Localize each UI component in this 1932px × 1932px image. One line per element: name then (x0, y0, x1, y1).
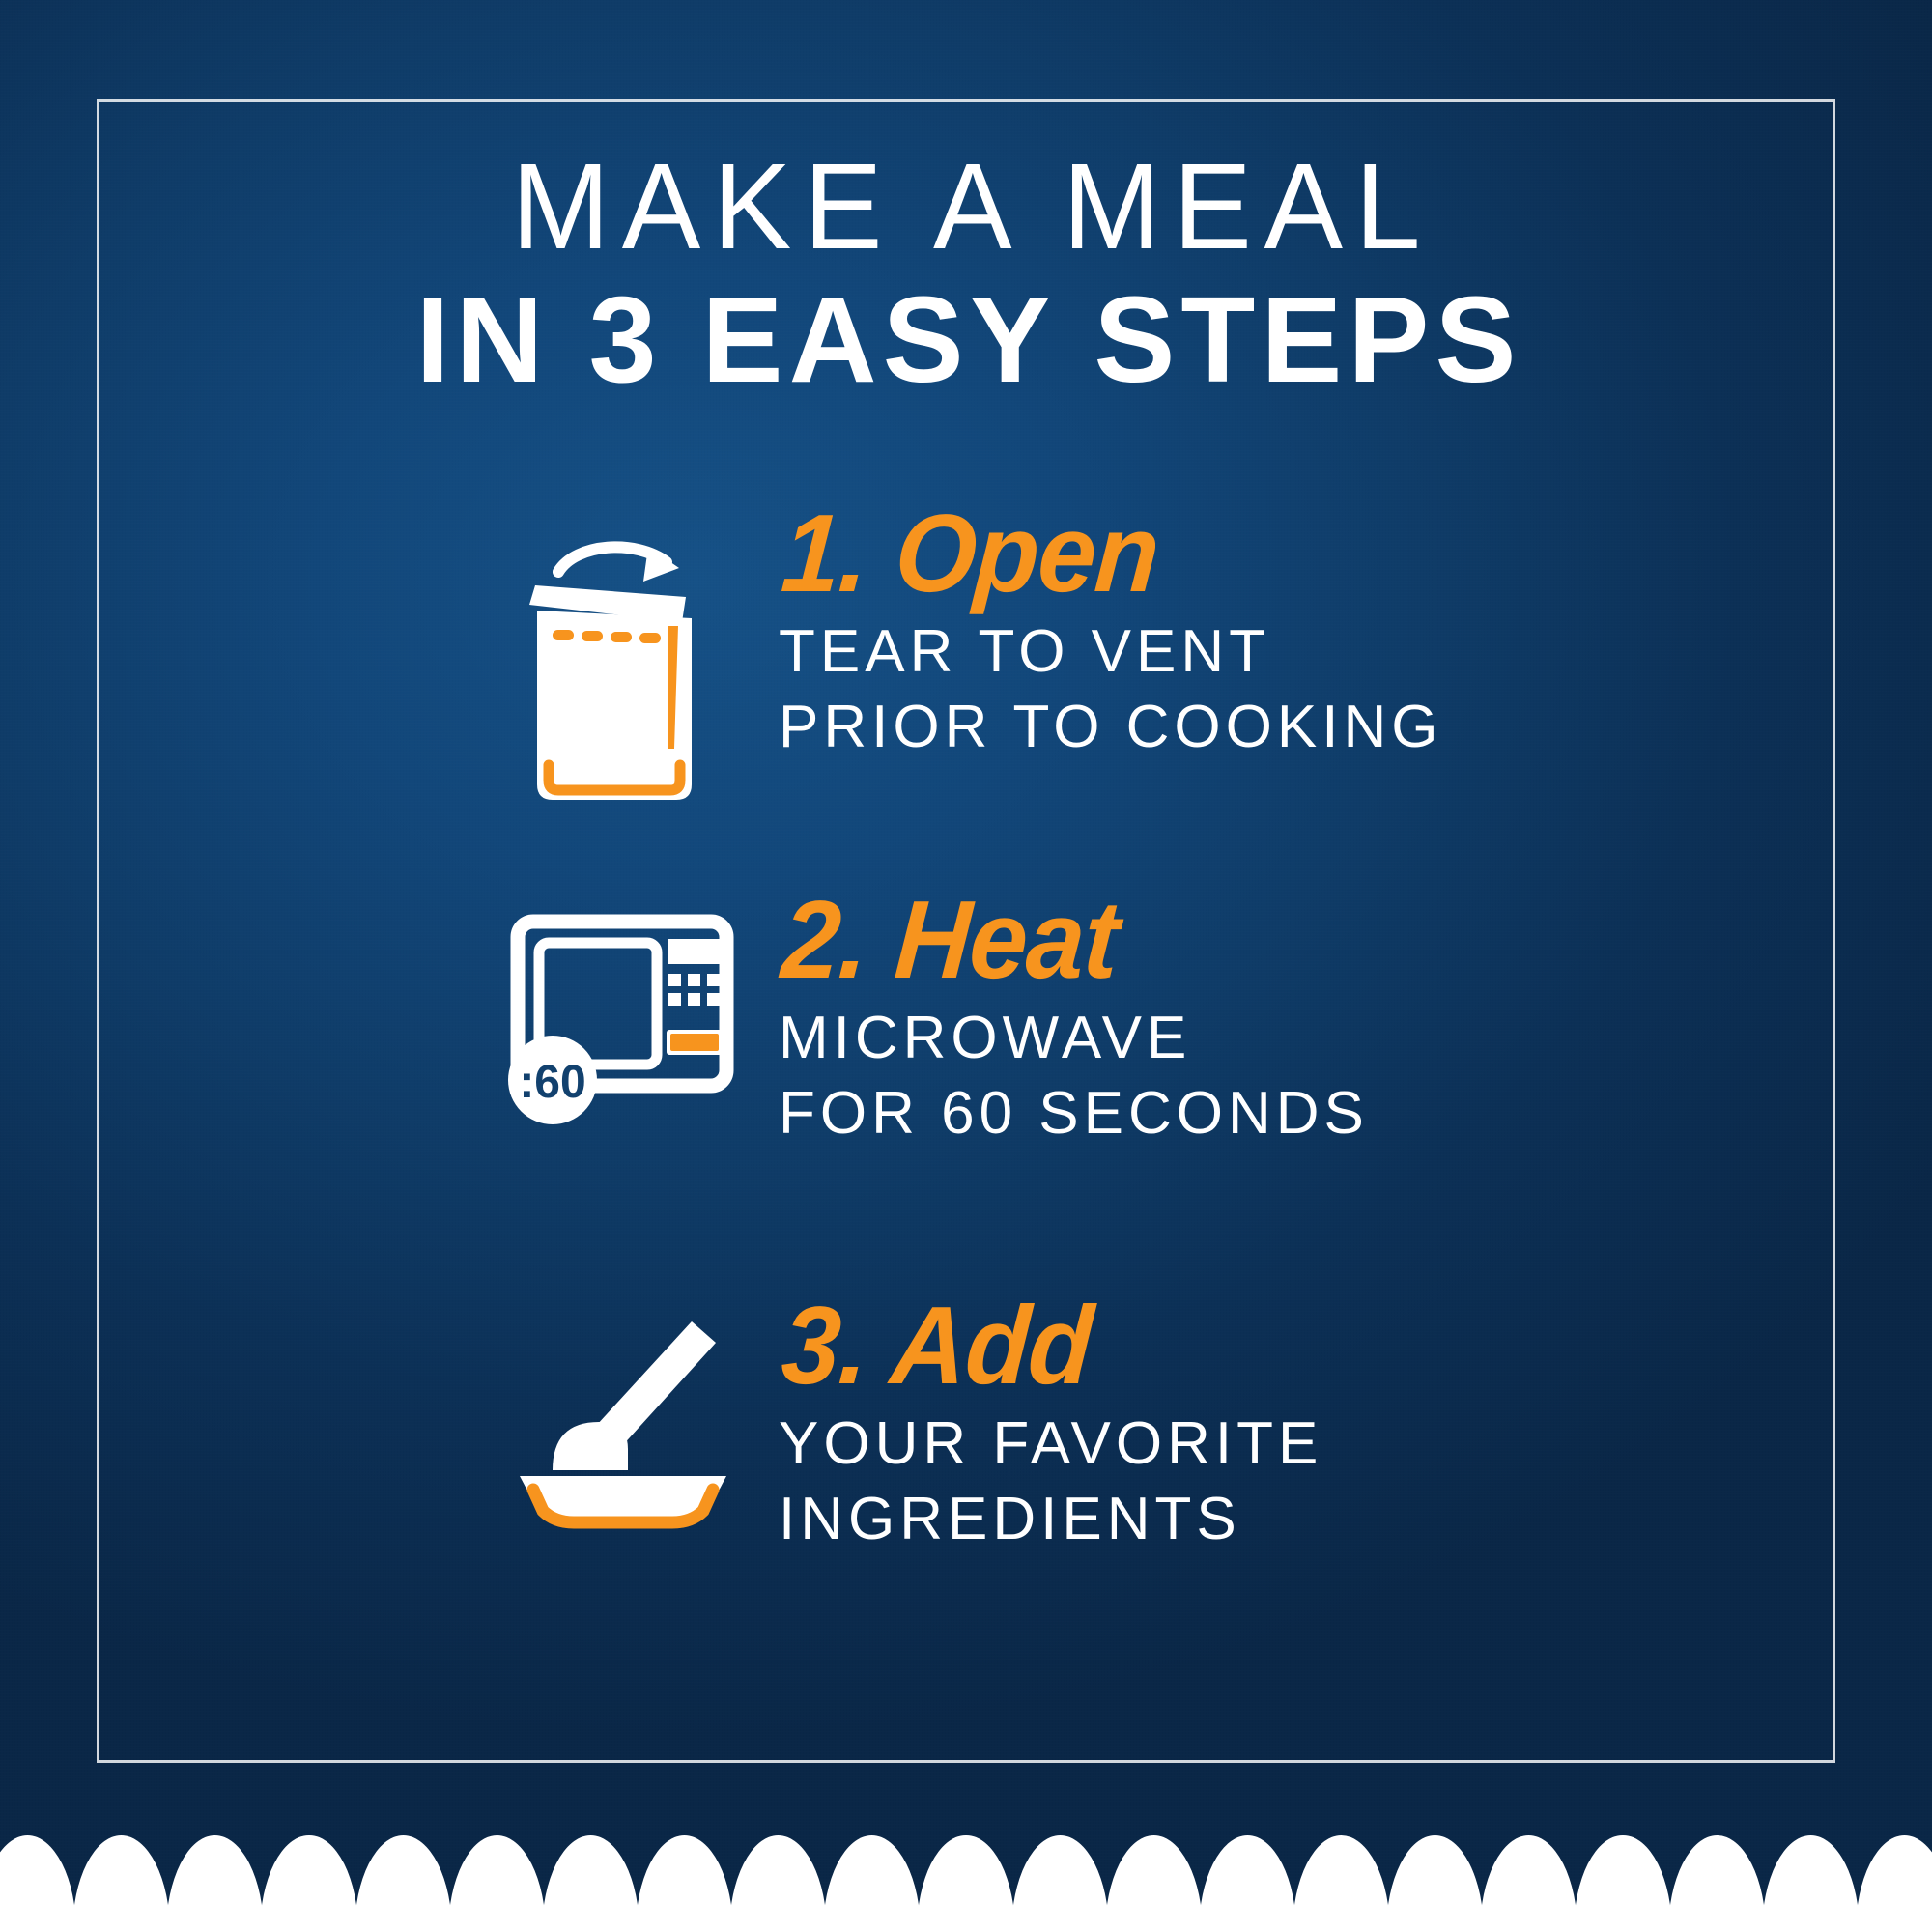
step-2-description: MICROWAVE FOR 60 SECONDS (779, 1001, 1369, 1151)
scallop-bump (542, 1835, 639, 1932)
scallop-bump (1199, 1835, 1296, 1932)
poster-canvas: MAKE A MEAL IN 3 EASY STEPS (0, 0, 1932, 1932)
step-1-text: 1. Open TEAR TO VENT PRIOR TO COOKING (744, 502, 1442, 765)
scallop-bump (355, 1835, 452, 1932)
bowl-spoon-icon (502, 1314, 744, 1536)
step-2-text: 2. Heat MICROWAVE FOR 60 SECONDS (744, 889, 1369, 1151)
scallop-bump (260, 1835, 357, 1932)
step-item-open: 1. Open TEAR TO VENT PRIOR TO COOKING (502, 502, 1932, 821)
step-1-title: 1. Open (779, 498, 1450, 609)
scallop-bump (448, 1835, 546, 1932)
scallop-bump (823, 1835, 921, 1932)
scallop-bump (1856, 1835, 1932, 1932)
pouch-tear-icon (520, 522, 727, 811)
step-2-title: 2. Heat (779, 885, 1377, 995)
scallop-bump (1105, 1835, 1203, 1932)
headline-line-1: MAKE A MEAL (29, 145, 1903, 270)
scallop-bump (1480, 1835, 1577, 1932)
scallop-bump (1762, 1835, 1860, 1932)
scallop-bump (1011, 1835, 1109, 1932)
step-3-icon-cell (502, 1294, 744, 1536)
scallop-bump (729, 1835, 827, 1932)
headline-line-2: IN 3 EASY STEPS (0, 279, 1932, 401)
step-3-description: YOUR FAVORITE INGREDIENTS (779, 1406, 1322, 1557)
steps-list: 1. Open TEAR TO VENT PRIOR TO COOKING (0, 502, 1932, 1633)
step-2-icon-cell: :60 (502, 889, 744, 1135)
step-1-description: TEAR TO VENT PRIOR TO COOKING (779, 614, 1442, 765)
step-3-text: 3. Add YOUR FAVORITE INGREDIENTS (744, 1294, 1322, 1557)
scallop-bump (1293, 1835, 1390, 1932)
headline-block: MAKE A MEAL IN 3 EASY STEPS (0, 145, 1932, 401)
scallop-bump (166, 1835, 264, 1932)
scalloped-edge (0, 1845, 1932, 1932)
scallop-bump (1668, 1835, 1766, 1932)
scallop-bump (1574, 1835, 1671, 1932)
microwave-icon: :60 (502, 908, 744, 1135)
scallop-bump (636, 1835, 733, 1932)
scallop-bump (72, 1835, 170, 1932)
scallop-bump (1386, 1835, 1484, 1932)
scallop-bump (917, 1835, 1014, 1932)
step-3-title: 3. Add (779, 1291, 1330, 1401)
scallop-bump (0, 1835, 76, 1932)
step-item-add: 3. Add YOUR FAVORITE INGREDIENTS (502, 1294, 1932, 1633)
step-item-heat: :60 2. Heat MICROWAVE FOR 60 SECONDS (502, 889, 1932, 1227)
timer-badge-label: :60 (519, 1057, 585, 1108)
step-1-icon-cell (502, 502, 744, 811)
